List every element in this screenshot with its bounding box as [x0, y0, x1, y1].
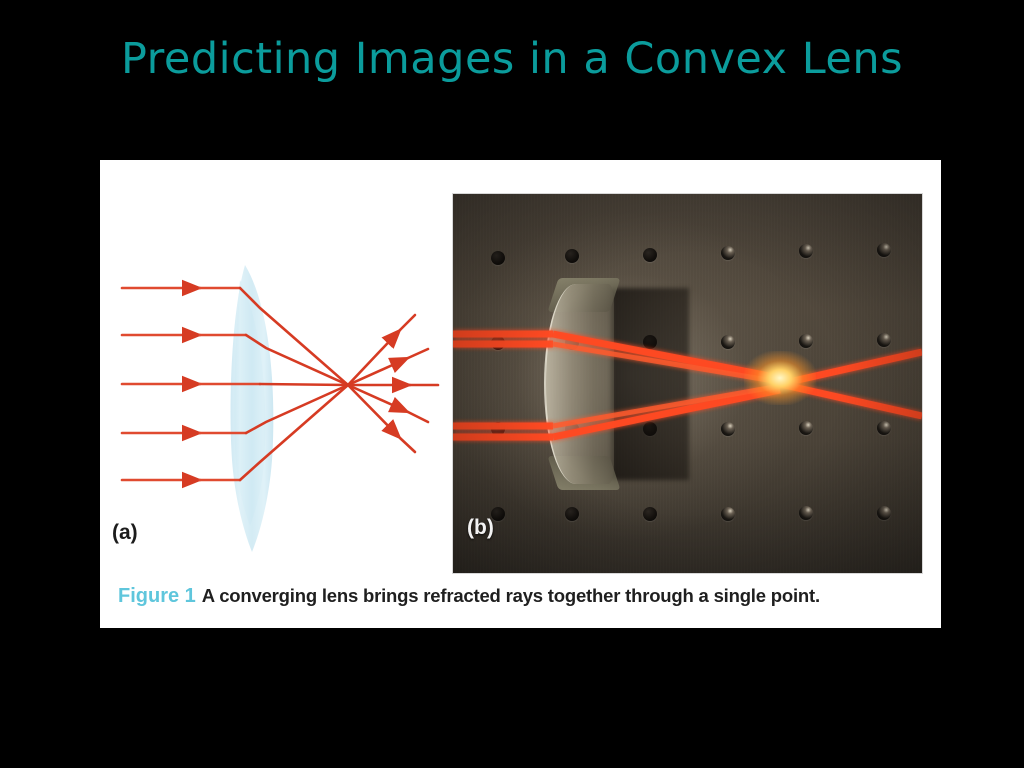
convex-lens-shape	[231, 265, 274, 552]
laser-beams-svg	[453, 194, 922, 573]
slide: Predicting Images in a Convex Lens	[0, 0, 1024, 768]
panel-b-photograph: (b)	[453, 194, 922, 573]
figure-caption-text: A converging lens brings refracted rays …	[202, 585, 820, 606]
figure-number: Figure 1	[118, 585, 196, 607]
page-title: Predicting Images in a Convex Lens	[0, 34, 1024, 84]
panel-b-label: (b)	[467, 516, 494, 540]
diverging-rays	[348, 315, 438, 452]
panel-a-ray-diagram: (a)	[100, 160, 453, 580]
figure-caption: Figure 1A converging lens brings refract…	[118, 585, 938, 608]
ray-diagram-svg	[100, 160, 453, 580]
panel-a-label: (a)	[112, 521, 138, 545]
figure-card: (a)	[100, 160, 941, 628]
